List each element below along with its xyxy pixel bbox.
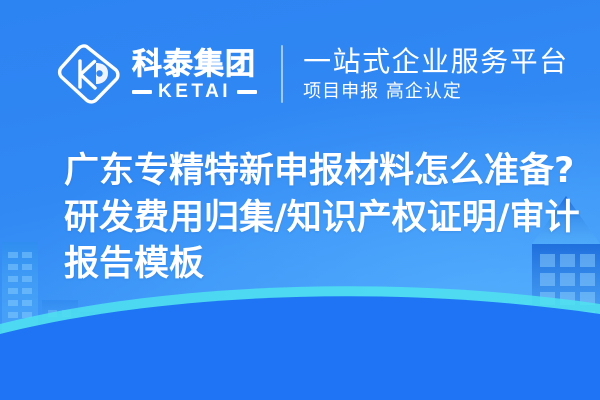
tagline-primary: 一站式企业服务平台 [303,47,569,78]
brand-header: 科泰集团 KETAI 一站式企业服务平台 项目申报 高企认定 [56,36,560,112]
header-divider [281,45,283,103]
logo-company-name-en-row: KETAI [132,82,257,101]
logo-rule-right [237,90,257,94]
logo-company-name-en: KETAI [158,82,231,101]
headline-line-1: 广东专精特新申报材料怎么准备? [64,148,558,195]
logo-company-name-cn: 科泰集团 [132,49,257,81]
headline-line-2: 研发费用归集/知识产权证明/审计 [64,195,558,242]
logo-block[interactable]: 科泰集团 KETAI [56,41,257,107]
headline-block: 广东专精特新申报材料怎么准备? 研发费用归集/知识产权证明/审计 报告模板 [64,148,558,288]
logo-wordmark: 科泰集团 KETAI [132,47,257,102]
tagline-secondary: 项目申报 高企认定 [303,82,569,102]
ketai-logo-icon [56,41,122,107]
promo-banner: 科泰集团 KETAI 一站式企业服务平台 项目申报 高企认定 广东专精特新申报材… [0,0,600,400]
tagline-block: 一站式企业服务平台 项目申报 高企认定 [303,47,569,102]
headline-line-3: 报告模板 [64,241,558,288]
logo-rule-left [132,90,152,94]
